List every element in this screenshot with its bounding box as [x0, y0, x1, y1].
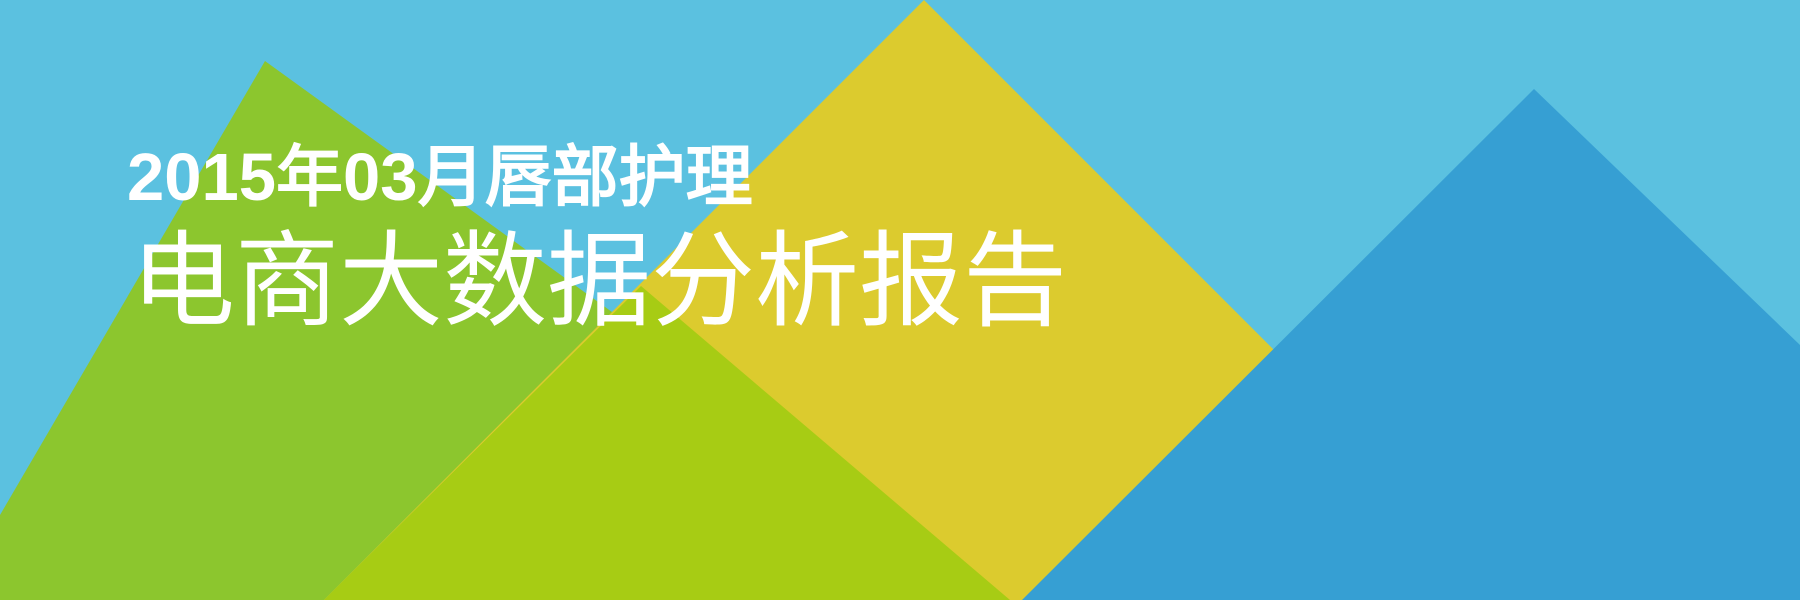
background-geometry — [0, 0, 1800, 600]
report-cover-banner: 2015年03月唇部护理 电商大数据分析报告 — [0, 0, 1800, 600]
